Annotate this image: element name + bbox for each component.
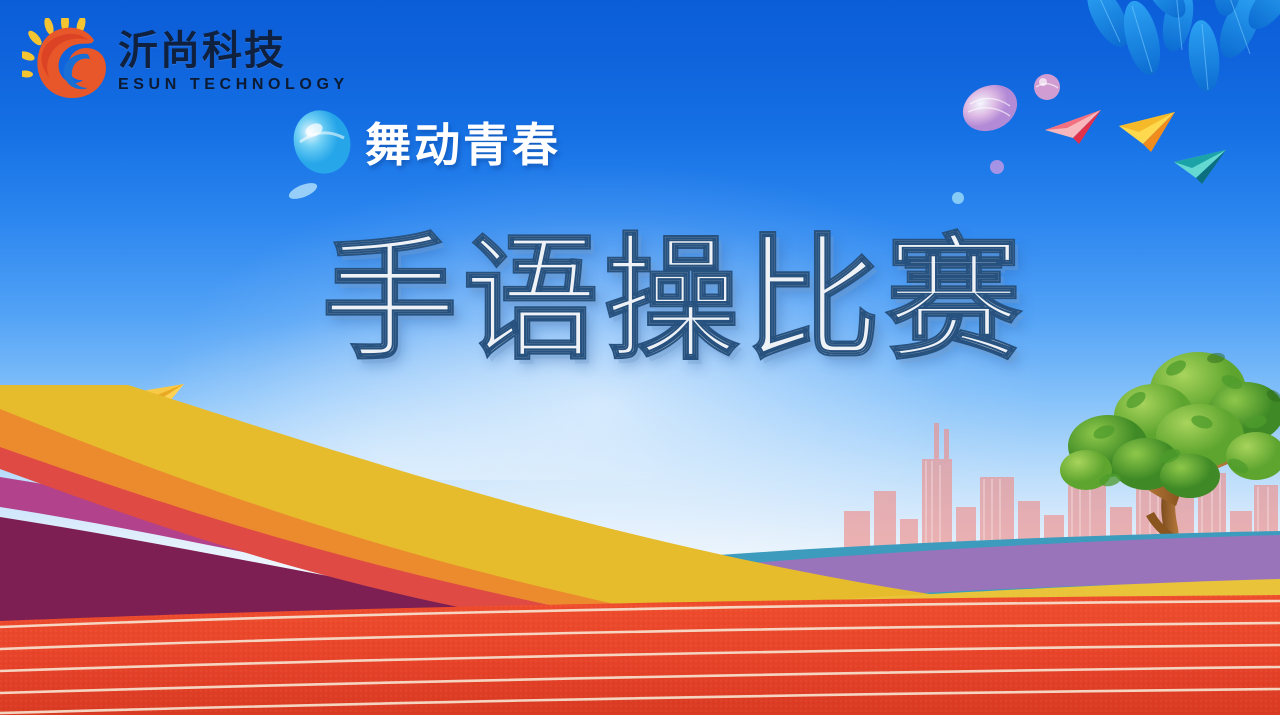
brand-logo[interactable]: 沂尚科技 ESUN TECHNOLOGY	[22, 18, 349, 106]
bubble-blue-large	[288, 108, 356, 178]
brand-name-en: ESUN TECHNOLOGY	[118, 77, 349, 93]
paper-plane-teal	[1172, 148, 1230, 186]
blue-leaves-cluster	[1080, 0, 1280, 162]
bubble-small-3	[988, 158, 1006, 176]
running-track	[0, 595, 1280, 715]
brand-name-cn: 沂尚科技	[118, 31, 349, 71]
bubble-small-1	[286, 182, 320, 200]
balloon-pink-small	[1032, 72, 1062, 102]
bubble-small-2	[950, 190, 966, 206]
poster-canvas: 沂尚科技 ESUN TECHNOLOGY	[0, 0, 1280, 715]
balloon-pink-large	[958, 82, 1022, 134]
poster-main-title: 手语操比赛	[322, 222, 1027, 377]
esun-swirl-sun-logo	[22, 18, 114, 106]
paper-plane-orange	[1117, 110, 1179, 154]
poster-subtitle: 舞动青春	[365, 122, 561, 168]
paper-plane-pink	[1043, 108, 1105, 146]
